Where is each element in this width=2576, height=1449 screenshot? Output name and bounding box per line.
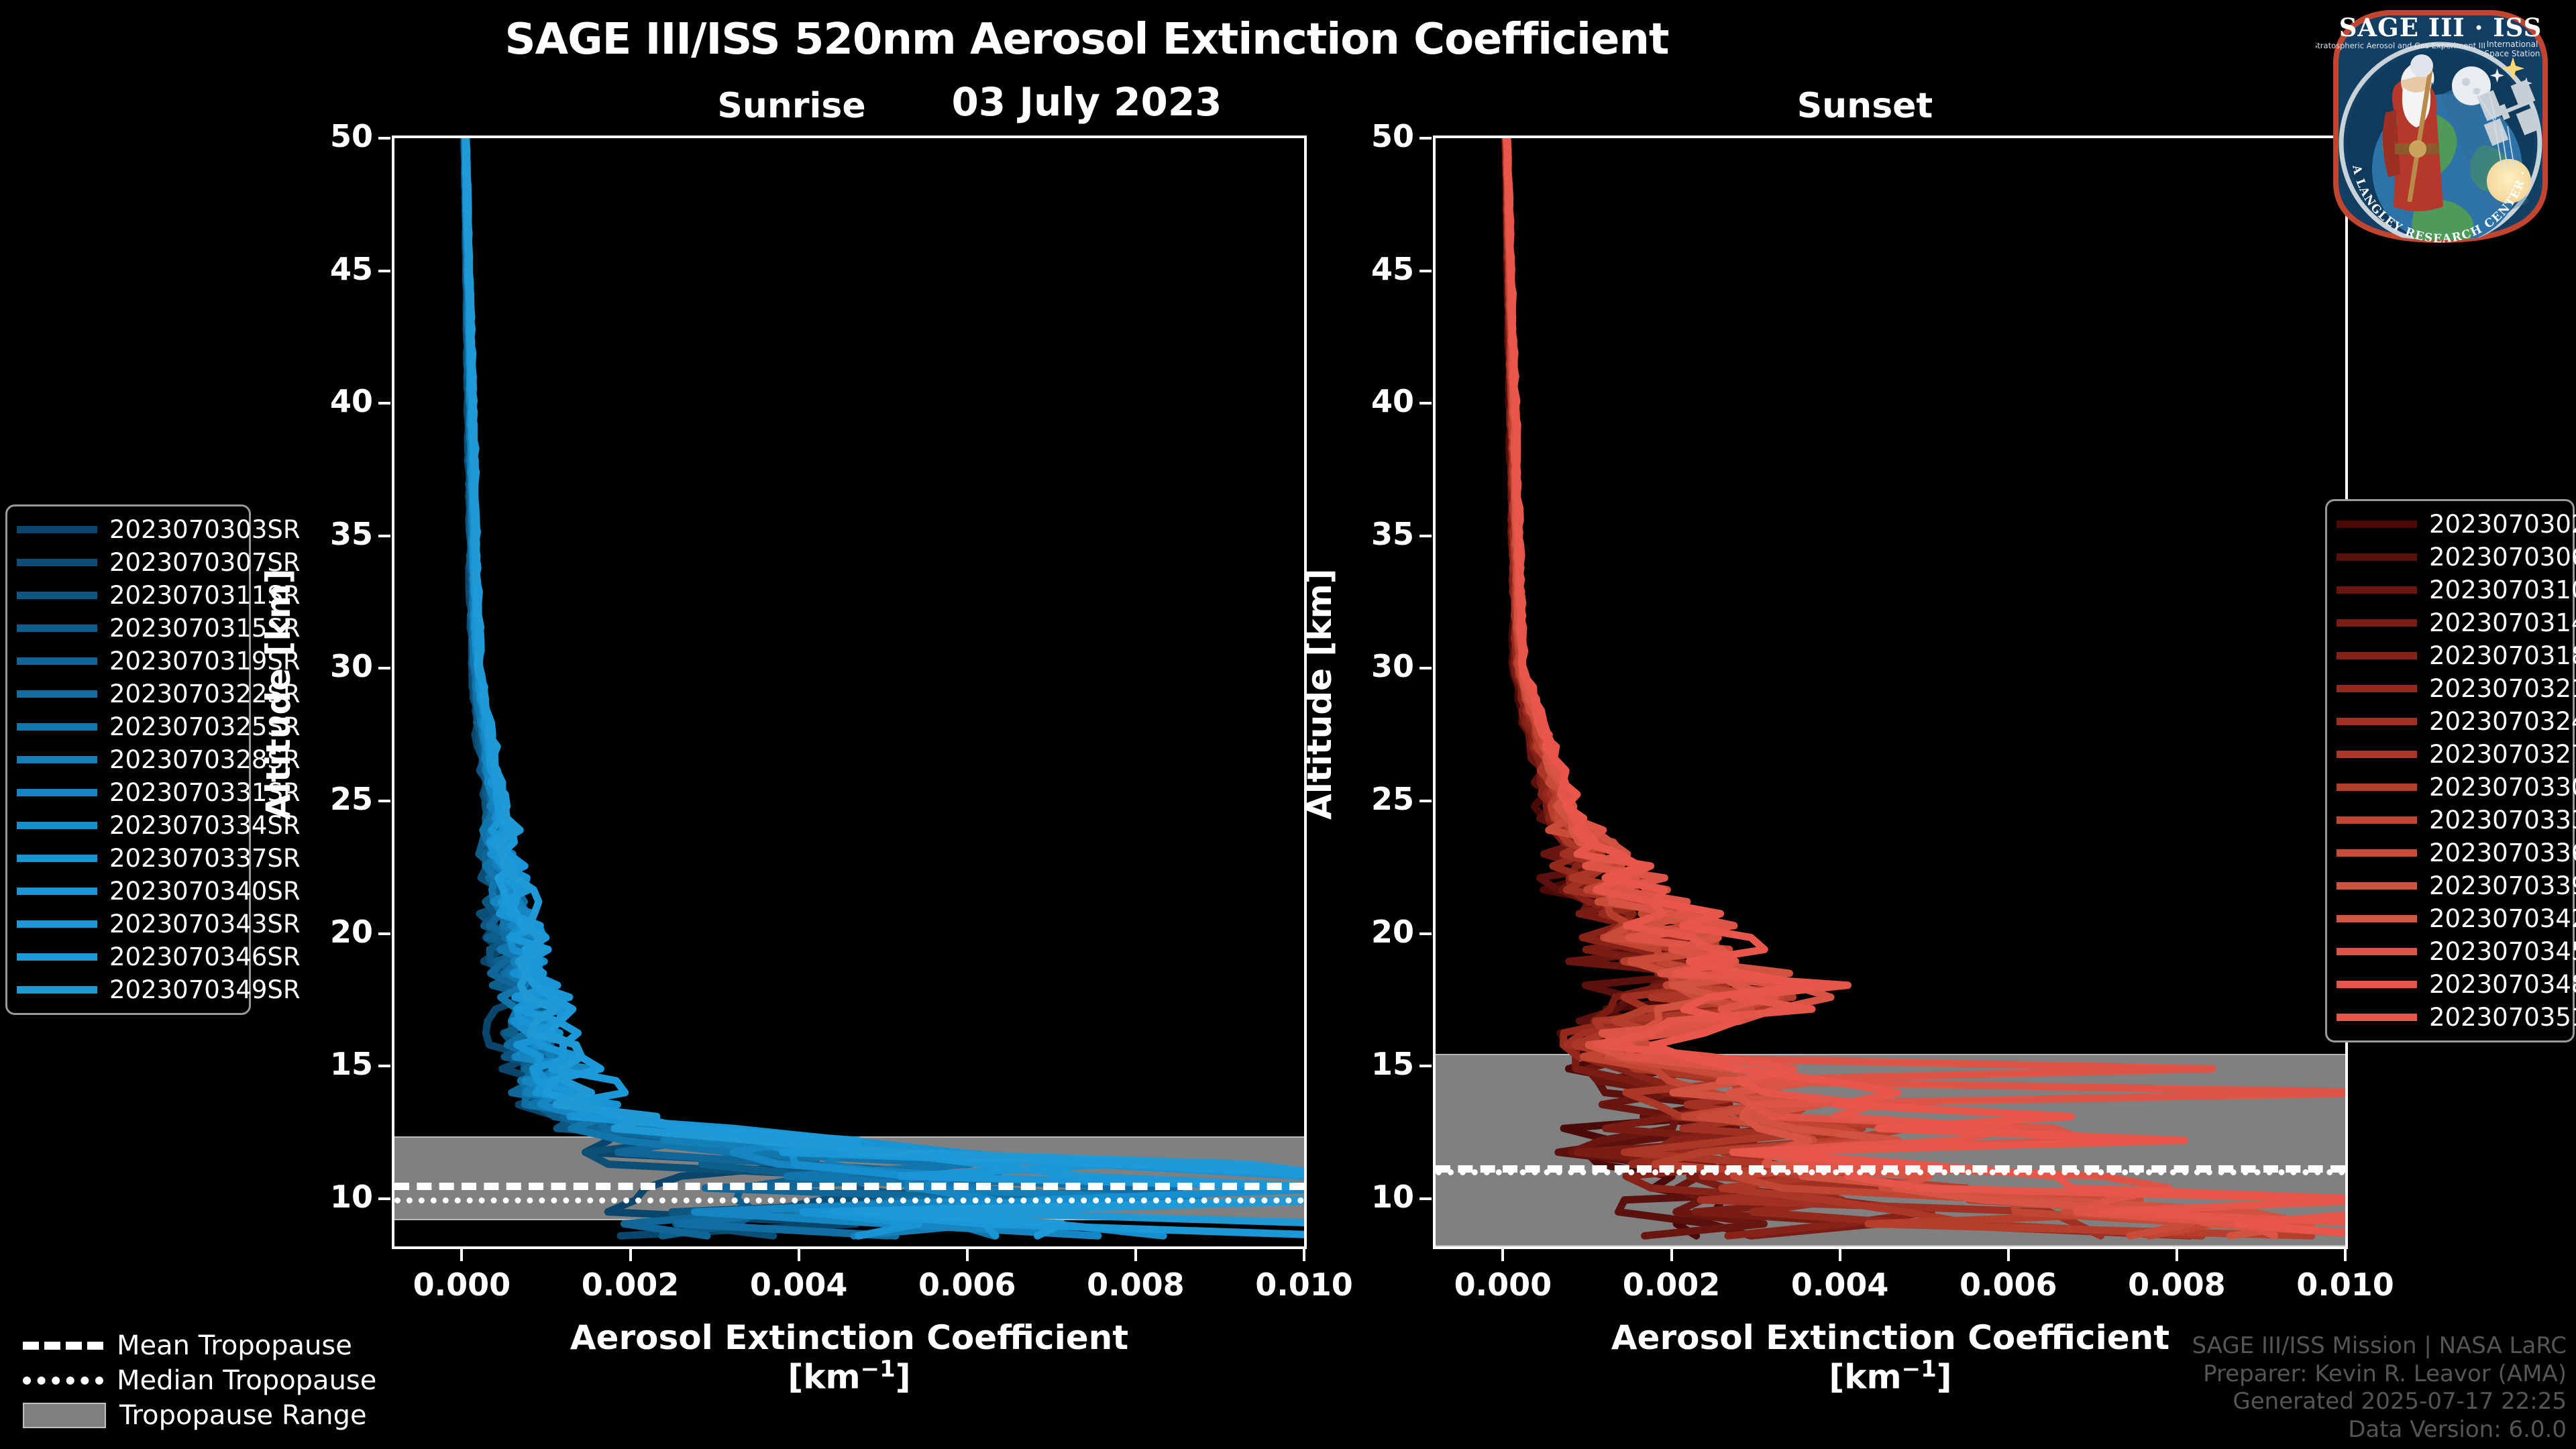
legend-color-swatch <box>17 953 97 961</box>
legend-item[interactable]: 2023070324SS <box>2337 705 2563 738</box>
legend-color-swatch <box>2337 718 2417 725</box>
profile-line <box>466 138 1304 1236</box>
legend-item[interactable]: 2023070342SS <box>2337 902 2563 935</box>
legend-item[interactable]: 2023070318SS <box>2337 639 2563 672</box>
y-axis-tick-mark <box>378 270 390 272</box>
legend-item[interactable]: 2023070306SS <box>2337 541 2563 574</box>
legend-item-label: 2023070302SS <box>2429 510 2576 539</box>
legend-item[interactable]: 2023070328SR <box>17 743 239 776</box>
x-axis-tick-label: 0.002 <box>557 1267 704 1303</box>
legend-item[interactable]: 2023070351SS <box>2337 1001 2563 1034</box>
legend-item-label: 2023070319SR <box>109 647 301 676</box>
sunrise-plot-area[interactable] <box>392 136 1307 1249</box>
legend-color-swatch <box>2337 521 2417 528</box>
legend-item-label: 2023070334SR <box>109 811 301 840</box>
legend-item-label: 2023070336SS <box>2429 839 2576 867</box>
x-axis-tick-label: 0.008 <box>2103 1267 2251 1303</box>
tropopause-range-swatch <box>23 1403 106 1428</box>
legend-color-swatch <box>2337 685 2417 692</box>
legend-item-tropopause-range[interactable]: Tropopause Range <box>23 1398 353 1433</box>
y-axis-tick-label: 50 <box>292 118 373 154</box>
legend-item[interactable]: 2023070315SR <box>17 612 239 645</box>
sunrise-legend[interactable]: 2023070303SR2023070307SR2023070311SR2023… <box>5 504 251 1015</box>
legend-item[interactable]: 2023070348SS <box>2337 968 2563 1001</box>
legend-item-label: 2023070351SS <box>2429 1003 2576 1032</box>
legend-item-label: 2023070306SS <box>2429 543 2576 572</box>
y-axis-tick-label: 20 <box>292 914 373 950</box>
x-axis-tick-label: 0.002 <box>1598 1267 1746 1303</box>
legend-item-label: 2023070327SS <box>2429 740 2576 769</box>
legend-item[interactable]: 2023070330SS <box>2337 771 2563 804</box>
legend-item-label: 2023070330SS <box>2429 773 2576 802</box>
legend-item[interactable]: 2023070331SR <box>17 776 239 809</box>
legend-color-swatch <box>2337 849 2417 857</box>
x-axis-tick-mark <box>1670 1249 1673 1261</box>
y-axis-tick-mark <box>1419 402 1432 405</box>
y-axis-tick-mark <box>1419 1065 1432 1067</box>
legend-item[interactable]: 2023070333SS <box>2337 804 2563 837</box>
legend-item[interactable]: 2023070314SS <box>2337 606 2563 639</box>
y-axis-tick-mark <box>378 667 390 669</box>
mean-tropopause-swatch <box>23 1342 103 1350</box>
legend-item-label: 2023070325SR <box>109 712 301 741</box>
profile-curves <box>1436 138 2345 1246</box>
legend-item-label: 2023070340SR <box>109 877 301 906</box>
legend-color-swatch <box>17 855 97 862</box>
y-axis-tick-mark <box>378 402 390 405</box>
x-axis-title: Aerosol Extinction Coefficient[km−1] <box>392 1319 1307 1396</box>
sunset-legend[interactable]: 2023070302SS2023070306SS2023070310SS2023… <box>2325 499 2575 1042</box>
x-axis-tick-mark <box>1303 1249 1305 1261</box>
y-axis-tick-mark <box>1419 137 1432 140</box>
legend-color-swatch <box>17 592 97 599</box>
x-axis-tick-label: 0.008 <box>1062 1267 1210 1303</box>
legend-item-label: 2023070315SR <box>109 614 301 643</box>
legend-item-median-tropopause[interactable]: Median Tropopause <box>23 1363 353 1398</box>
logo-subtitle-left: Stratospheric Aerosol and Gas Experiment… <box>2316 41 2485 50</box>
x-axis-tick-label: 0.000 <box>1429 1267 1576 1303</box>
y-axis-tick-mark <box>1419 1197 1432 1200</box>
x-axis-tick-mark <box>798 1249 800 1261</box>
legend-item[interactable]: 2023070325SR <box>17 710 239 743</box>
legend-item-label: 2023070343SR <box>109 910 301 938</box>
legend-color-swatch <box>2337 751 2417 758</box>
legend-item[interactable]: 2023070345SS <box>2337 935 2563 968</box>
legend-color-swatch <box>2337 981 2417 988</box>
legend-item[interactable]: 2023070307SR <box>17 546 239 579</box>
legend-color-swatch <box>17 822 97 829</box>
y-axis-tick-label: 15 <box>1334 1046 1414 1082</box>
legend-item[interactable]: 2023070337SR <box>17 842 239 875</box>
legend-item-label: 2023070342SS <box>2429 904 2576 933</box>
sage-iii-iss-logo-icon: SAGE III · ISS Stratospheric Aerosol and… <box>2316 1 2565 251</box>
median-tropopause-swatch <box>23 1377 103 1385</box>
legend-item-label: 2023070322SR <box>109 680 301 708</box>
x-axis-tick-label: 0.006 <box>1935 1267 2082 1303</box>
legend-color-swatch <box>2337 882 2417 890</box>
y-axis-tick-label: 25 <box>292 781 373 817</box>
logo-title: SAGE III · ISS <box>2339 13 2542 42</box>
legend-color-swatch <box>2337 586 2417 594</box>
legend-color-swatch <box>2337 784 2417 791</box>
legend-color-swatch <box>17 657 97 665</box>
sunrise-panel-label: Sunrise <box>590 86 993 126</box>
legend-item-label: Tropopause Range <box>119 1400 367 1431</box>
x-axis-tick-mark <box>629 1249 632 1261</box>
svg-text:Space Station: Space Station <box>2484 49 2540 58</box>
x-axis-tick-mark <box>1839 1249 1841 1261</box>
sunset-plot-area[interactable] <box>1433 136 2348 1249</box>
legend-color-swatch <box>17 625 97 632</box>
y-axis-tick-mark <box>1419 270 1432 272</box>
x-axis-tick-mark <box>460 1249 463 1261</box>
x-axis-tick-label: 0.010 <box>1230 1267 1378 1303</box>
legend-item-label: 2023070339SS <box>2429 871 2576 900</box>
legend-color-swatch <box>17 756 97 763</box>
y-axis-tick-label: 30 <box>292 648 373 684</box>
legend-item-label: 2023070345SS <box>2429 937 2576 966</box>
tropopause-legend[interactable]: Mean TropopauseMedian TropopauseTropopau… <box>13 1322 362 1440</box>
x-axis-title-line1: Aerosol Extinction Coefficient <box>392 1319 1307 1356</box>
y-axis-tick-label: 45 <box>1334 251 1414 287</box>
legend-color-swatch <box>17 526 97 533</box>
legend-item[interactable]: 2023070327SS <box>2337 738 2563 771</box>
credit-line: SAGE III/ISS Mission | NASA LaRC <box>2192 1332 2567 1360</box>
legend-item-label: 2023070337SR <box>109 844 301 873</box>
y-axis-tick-mark <box>1419 932 1432 935</box>
y-axis-tick-label: 50 <box>1334 118 1414 154</box>
svg-text:International: International <box>2487 40 2538 49</box>
y-axis-tick-label: 10 <box>292 1179 373 1215</box>
credit-line: Generated 2025-07-17 22:25 <box>2192 1388 2567 1415</box>
y-axis-tick-label: 35 <box>1334 516 1414 552</box>
legend-color-swatch <box>17 723 97 731</box>
x-axis-tick-label: 0.004 <box>1766 1267 1914 1303</box>
legend-item[interactable]: 2023070321SS <box>2337 672 2563 705</box>
credit-line: Preparer: Kevin R. Leavor (AMA) <box>2192 1360 2567 1388</box>
legend-item-label: 2023070310SS <box>2429 576 2576 604</box>
y-axis-tick-mark <box>1419 667 1432 669</box>
legend-item-label: 2023070314SS <box>2429 608 2576 637</box>
legend-item-label: 2023070328SR <box>109 745 301 774</box>
y-axis-tick-mark <box>1419 800 1432 802</box>
legend-color-swatch <box>2337 652 2417 659</box>
legend-item-label: 2023070321SS <box>2429 674 2576 703</box>
legend-color-swatch <box>2337 816 2417 824</box>
legend-item-label: 2023070303SR <box>109 515 301 544</box>
legend-item[interactable]: 2023070346SR <box>17 941 239 973</box>
legend-color-swatch <box>2337 915 2417 922</box>
x-axis-title-units: [km−1] <box>392 1356 1307 1396</box>
x-axis-tick-mark <box>2007 1249 2010 1261</box>
x-axis-tick-label: 0.010 <box>2271 1267 2419 1303</box>
legend-item-label: 2023070348SS <box>2429 970 2576 999</box>
y-axis-title: Altitude [km] <box>1300 568 1339 820</box>
legend-item[interactable]: 2023070343SR <box>17 908 239 941</box>
legend-item-label: Median Tropopause <box>117 1365 376 1396</box>
legend-item[interactable]: 2023070303SR <box>17 513 239 546</box>
credit-line: Data Version: 6.0.0 <box>2192 1416 2567 1444</box>
x-axis-tick-label: 0.000 <box>388 1267 535 1303</box>
credits-block: SAGE III/ISS Mission | NASA LaRCPreparer… <box>2192 1332 2567 1444</box>
legend-item-label: 2023070324SS <box>2429 707 2576 736</box>
legend-item[interactable]: 2023070302SS <box>2337 508 2563 541</box>
legend-item-label: 2023070311SR <box>109 581 301 610</box>
legend-item-label: 2023070331SR <box>109 778 301 807</box>
y-axis-tick-label: 10 <box>1334 1179 1414 1215</box>
median-tropopause-line <box>394 1197 1304 1203</box>
y-axis-tick-mark <box>378 1197 390 1200</box>
y-axis-tick-mark <box>378 1065 390 1067</box>
legend-item[interactable]: 2023070319SR <box>17 645 239 678</box>
y-axis-tick-label: 40 <box>292 383 373 419</box>
y-axis-tick-label: 45 <box>292 251 373 287</box>
y-axis-tick-mark <box>378 535 390 537</box>
legend-item[interactable]: 2023070349SR <box>17 973 239 1006</box>
legend-item[interactable]: 2023070339SS <box>2337 869 2563 902</box>
legend-color-swatch <box>17 888 97 895</box>
legend-color-swatch <box>17 690 97 698</box>
legend-item-label: 2023070346SR <box>109 943 301 971</box>
legend-item-label: 2023070307SR <box>109 548 301 577</box>
y-axis-tick-mark <box>378 800 390 802</box>
mean-tropopause-line <box>394 1183 1304 1190</box>
legend-item[interactable]: 2023070311SR <box>17 579 239 612</box>
legend-color-swatch <box>2337 948 2417 955</box>
legend-item-label: 2023070333SS <box>2429 806 2576 835</box>
y-axis-tick-mark <box>378 137 390 140</box>
legend-color-swatch <box>17 789 97 796</box>
legend-color-swatch <box>17 920 97 928</box>
y-axis-tick-mark <box>378 932 390 935</box>
legend-color-swatch <box>17 986 97 994</box>
x-axis-tick-mark <box>966 1249 969 1261</box>
legend-item[interactable]: 2023070340SR <box>17 875 239 908</box>
median-tropopause-line <box>1436 1169 2345 1175</box>
x-axis-tick-label: 0.004 <box>725 1267 873 1303</box>
y-axis-tick-label: 15 <box>292 1046 373 1082</box>
sunset-panel-label: Sunset <box>1664 86 2066 126</box>
legend-item[interactable]: 2023070310SS <box>2337 574 2563 606</box>
legend-item-label: Mean Tropopause <box>117 1330 352 1361</box>
legend-item-label: 2023070318SS <box>2429 641 2576 670</box>
y-axis-tick-label: 25 <box>1334 781 1414 817</box>
legend-item[interactable]: 2023070336SS <box>2337 837 2563 869</box>
x-axis-tick-mark <box>1134 1249 1137 1261</box>
legend-item[interactable]: 2023070334SR <box>17 809 239 842</box>
legend-item-label: 2023070349SR <box>109 975 301 1004</box>
y-axis-tick-label: 20 <box>1334 914 1414 950</box>
legend-color-swatch <box>2337 553 2417 561</box>
profile-curves <box>394 138 1304 1246</box>
y-axis-tick-label: 30 <box>1334 648 1414 684</box>
legend-item-mean-tropopause[interactable]: Mean Tropopause <box>23 1328 353 1363</box>
legend-color-swatch <box>2337 619 2417 627</box>
legend-color-swatch <box>2337 1014 2417 1021</box>
legend-color-swatch <box>17 559 97 566</box>
x-axis-tick-mark <box>2344 1249 2347 1261</box>
y-axis-tick-label: 35 <box>292 516 373 552</box>
x-axis-tick-mark <box>2176 1249 2178 1261</box>
page-title: SAGE III/ISS 520nm Aerosol Extinction Co… <box>0 15 2173 64</box>
y-axis-tick-label: 40 <box>1334 383 1414 419</box>
x-axis-tick-label: 0.006 <box>894 1267 1041 1303</box>
x-axis-tick-mark <box>1501 1249 1504 1261</box>
legend-item[interactable]: 2023070322SR <box>17 678 239 710</box>
y-axis-tick-mark <box>1419 535 1432 537</box>
